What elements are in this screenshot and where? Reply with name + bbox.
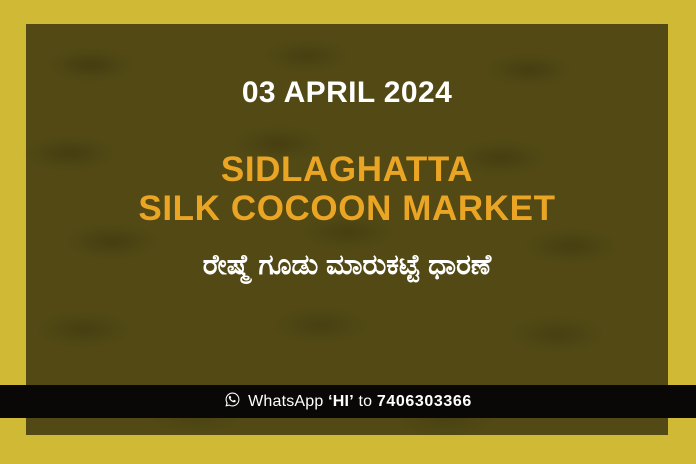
poster-title: SIDLAGHATTA SILK COCOON MARKET bbox=[138, 150, 555, 228]
whatsapp-keyword: ‘HI’ bbox=[328, 393, 354, 410]
poster-date: 03 APRIL 2024 bbox=[242, 78, 452, 108]
whatsapp-connector: to bbox=[359, 393, 373, 410]
whatsapp-instruction: WhatsApp ‘HI’ to 7406303366 bbox=[248, 394, 472, 410]
whatsapp-footer-bar: WhatsApp ‘HI’ to 7406303366 bbox=[0, 385, 696, 418]
title-line-two: SILK COCOON MARKET bbox=[138, 189, 555, 228]
whatsapp-phone-number: 7406303366 bbox=[377, 393, 472, 410]
whatsapp-app-label: WhatsApp bbox=[248, 393, 323, 410]
poster-content: 03 APRIL 2024 SIDLAGHATTA SILK COCOON MA… bbox=[26, 24, 668, 435]
whatsapp-icon bbox=[224, 391, 241, 413]
silk-cocoon-market-poster: 03 APRIL 2024 SIDLAGHATTA SILK COCOON MA… bbox=[0, 0, 696, 464]
poster-subtitle-kannada: ರೇಷ್ಮೆ ಗೂಡು ಮಾರುಕಟ್ಟೆ ಧಾರಣೆ bbox=[203, 248, 492, 282]
title-line-one: SIDLAGHATTA bbox=[138, 150, 555, 189]
